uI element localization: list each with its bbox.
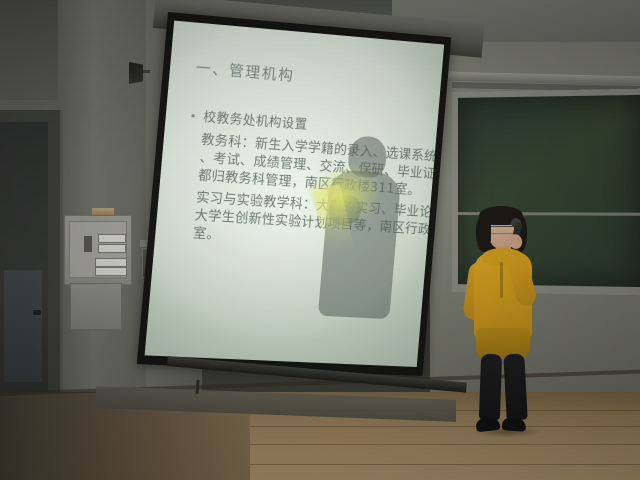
slide-bullet-label: 校教务处机构设置	[203, 106, 309, 133]
presenter	[452, 206, 548, 438]
classroom-scene: 一、管理机构 校教务处机构设置 教务科：新生入学学籍的录入、选课系统、上课 、考…	[0, 0, 640, 480]
presenter-hair-side-left	[476, 216, 491, 252]
presentation-slide: 一、管理机构 校教务处机构设置 教务科：新生入学学籍的录入、选课系统、上课 、考…	[145, 21, 445, 367]
classroom-door[interactable]	[0, 122, 48, 424]
slide-title: 一、管理机构	[195, 57, 425, 96]
breaker-row[interactable]	[95, 258, 127, 267]
projection-screen-surface: 一、管理机构 校教务处机构设置 教务科：新生入学学籍的录入、选课系统、上课 、考…	[145, 21, 445, 367]
door-glass-panel	[4, 270, 42, 382]
breaker-row[interactable]	[95, 267, 127, 276]
projection-screen: 一、管理机构 校教务处机构设置 教务科：新生入学学籍的录入、选课系统、上课 、考…	[137, 12, 451, 376]
presenter-shoe-left	[475, 417, 500, 432]
presenter-leg-left	[479, 354, 502, 421]
panel-meter-icon	[84, 236, 92, 252]
bullet-square-icon	[191, 114, 194, 117]
panel-face	[69, 221, 127, 278]
presenter-legs	[478, 354, 528, 420]
door-handle-icon[interactable]	[33, 310, 41, 315]
presenter-sweater-placket	[500, 262, 503, 298]
breaker-row[interactable]	[98, 244, 126, 253]
breaker-row[interactable]	[98, 234, 126, 243]
presenter-leg-right	[503, 353, 527, 420]
slide-paragraph-2: 实习与实验教学科：大四的实习、毕业论文以及 大学生创新性实验计划项目等，南区行政…	[180, 188, 414, 255]
electrical-panel[interactable]	[64, 215, 132, 285]
panel-lower-cover[interactable]	[70, 283, 122, 330]
wall-speaker-icon	[129, 62, 143, 84]
slide-paragraph-1: 教务科：新生入学学籍的录入、选课系统、上课 、考试、成绩管理、交流、保研、毕业证…	[186, 130, 419, 199]
